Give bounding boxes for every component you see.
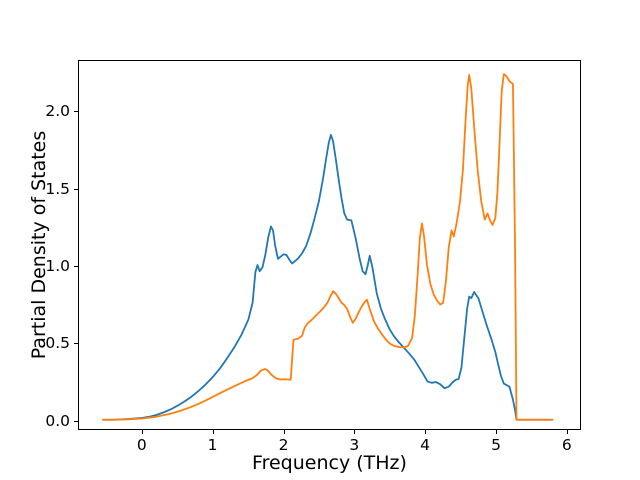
x-tick-mark [496, 430, 497, 434]
x-tick-label: 4 [420, 436, 430, 454]
x-tick-mark [142, 430, 143, 434]
x-tick-label: 3 [349, 436, 359, 454]
x-tick-label: 6 [562, 436, 572, 454]
plot-area [78, 60, 581, 430]
y-tick-label: 1.0 [45, 257, 70, 275]
x-tick-mark [425, 430, 426, 434]
x-tick-mark [354, 430, 355, 434]
line-series-2 [103, 74, 552, 420]
figure-canvas: Partial Density of States Frequency (THz… [0, 0, 640, 480]
y-tick-label: 0.5 [45, 334, 70, 352]
x-axis-label: Frequency (THz) [78, 452, 581, 474]
x-tick-label: 2 [279, 436, 289, 454]
x-tick-mark [284, 430, 285, 434]
x-tick-label: 0 [137, 436, 147, 454]
y-tick-label: 1.5 [45, 180, 70, 198]
y-tick-label: 0.0 [45, 412, 70, 430]
plot-lines [79, 61, 580, 429]
x-tick-mark [567, 430, 568, 434]
x-tick-mark [213, 430, 214, 434]
line-series-1 [103, 135, 552, 420]
y-tick-label: 2.0 [45, 102, 70, 120]
x-tick-label: 5 [491, 436, 501, 454]
x-tick-label: 1 [208, 436, 218, 454]
